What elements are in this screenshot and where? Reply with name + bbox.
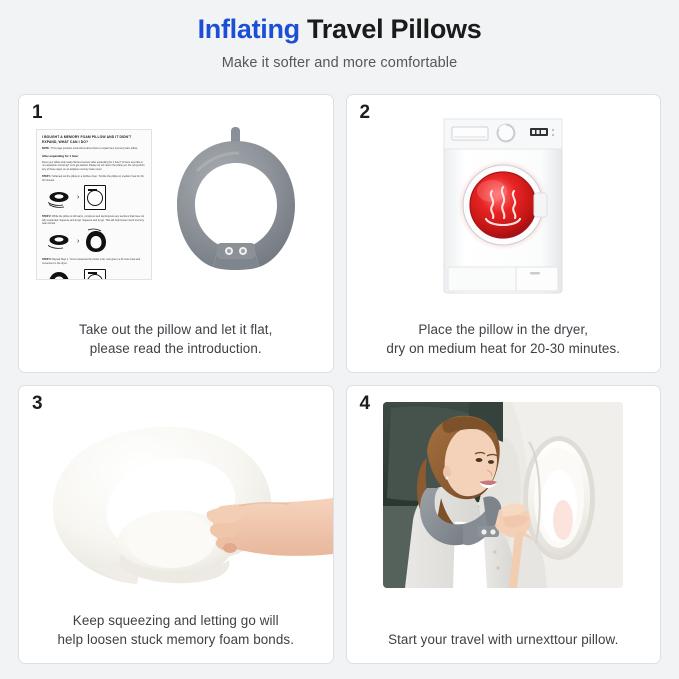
step-card-3: 3 bbox=[18, 385, 334, 664]
leaflet-heading: I BOUGHT A MEMORY FOAM PILLOW AND IT DID… bbox=[42, 135, 146, 144]
white-foam-pillow-with-hand bbox=[25, 414, 334, 592]
dryer-icon-2 bbox=[84, 269, 106, 280]
step-card-2: 2 bbox=[346, 94, 662, 373]
leaflet-arrow-2: › bbox=[77, 238, 79, 245]
leaflet-arrow-1: › bbox=[77, 194, 79, 201]
leaflet-step-3: STEP 3: Repeat Step 1. You've loosened t… bbox=[42, 258, 146, 265]
step-4-illustration bbox=[347, 386, 661, 630]
leaflet-subheading: After expanding for 1 hour bbox=[42, 154, 146, 158]
leaflet-step-1-label: STEP 1: bbox=[42, 175, 51, 178]
leaflet-diagram-1: › bbox=[42, 184, 146, 211]
page-title: Inflating Travel Pillows bbox=[18, 14, 661, 45]
leaflet-step-3-label: STEP 3: bbox=[42, 258, 51, 261]
steps-grid: 1 I BOUGHT A MEMORY FOAM PILLOW AND IT D… bbox=[18, 94, 661, 664]
travel-photo bbox=[383, 402, 623, 588]
step-3-illustration bbox=[19, 386, 333, 611]
title-rest: Travel Pillows bbox=[300, 14, 482, 44]
instruction-leaflet: I BOUGHT A MEMORY FOAM PILLOW AND IT DID… bbox=[36, 129, 152, 280]
step-3-caption: Keep squeezing and letting go will help … bbox=[19, 611, 333, 663]
flat-pillow-icon bbox=[46, 187, 72, 209]
step-2-caption: Place the pillow in the dryer, dry on me… bbox=[347, 320, 661, 372]
infographic-page: Inflating Travel Pillows Make it softer … bbox=[0, 0, 679, 679]
step-card-1: 1 I BOUGHT A MEMORY FOAM PILLOW AND IT D… bbox=[18, 94, 334, 373]
step-4-caption: Start your travel with urnexttour pillow… bbox=[347, 630, 661, 663]
step-card-4: 4 bbox=[346, 385, 662, 664]
expanded-pillow-icon bbox=[84, 228, 108, 254]
step-2-illustration bbox=[347, 95, 661, 320]
dryer-appliance bbox=[442, 117, 564, 297]
gray-travel-pillow bbox=[167, 125, 305, 285]
leaflet-step-2-label: STEP 2: bbox=[42, 215, 51, 218]
step-1-caption: Take out the pillow and let it flat, ple… bbox=[19, 320, 333, 372]
step-1-illustration: I BOUGHT A MEMORY FOAM PILLOW AND IT DID… bbox=[19, 95, 333, 320]
leaflet-note-label: NOTE : bbox=[42, 147, 50, 150]
leaflet-note-text: This page provides instructions about ho… bbox=[51, 147, 138, 150]
leaflet-step-2-text: While the pillow is still warm, compress… bbox=[42, 215, 144, 225]
leaflet-subtext: Does your pillow look ready flat and rec… bbox=[42, 161, 146, 172]
leaflet-note: NOTE : This page provides instructions a… bbox=[42, 147, 146, 151]
leaflet-step-1: STEP 1: Softened out the pillow in a clo… bbox=[42, 175, 146, 182]
leaflet-step-1-text: Softened out the pillow in a clothes dry… bbox=[42, 175, 144, 182]
title-highlight: Inflating bbox=[198, 14, 300, 44]
page-header: Inflating Travel Pillows Make it softer … bbox=[18, 0, 661, 71]
leaflet-arrow-3: › bbox=[77, 278, 79, 280]
leaflet-step-3-text: Repeat Step 1. You've loosened the bonds… bbox=[42, 258, 140, 265]
page-subtitle: Make it softer and more comfortable bbox=[18, 55, 661, 71]
flat-pillow-icon bbox=[46, 230, 72, 252]
leaflet-step-2: STEP 2: While the pillow is still warm, … bbox=[42, 215, 146, 226]
expanded-pillow-icon bbox=[46, 270, 72, 280]
leaflet-diagram-2: › bbox=[42, 228, 146, 255]
airplane-cabin-scene bbox=[383, 402, 623, 588]
leaflet-diagram-3: › bbox=[42, 268, 146, 280]
dryer-icon-1 bbox=[84, 185, 106, 210]
